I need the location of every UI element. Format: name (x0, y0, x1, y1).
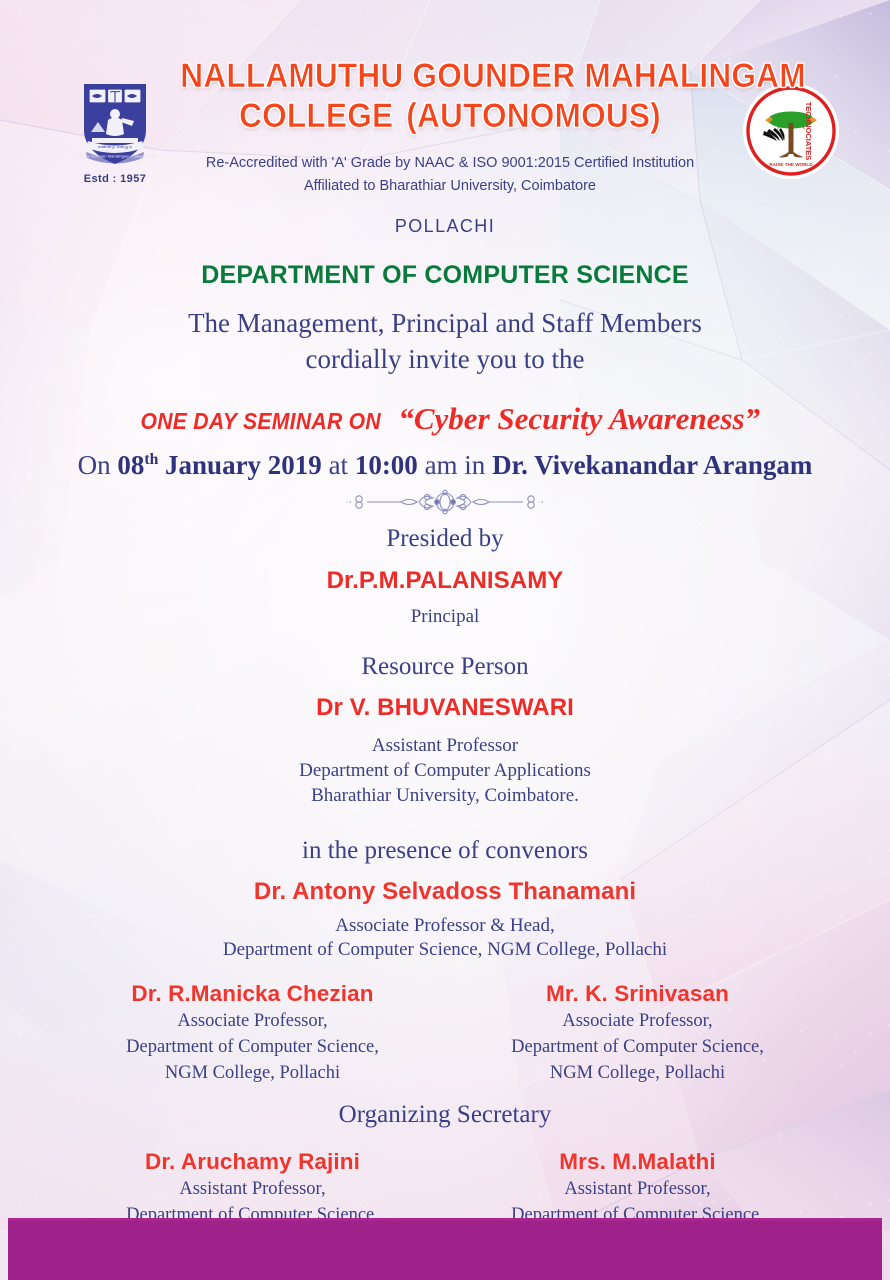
resource-person-label: Resource Person (0, 651, 890, 682)
convenor-member-1-name: Dr. R.Manicka Chezian (60, 981, 445, 1007)
event-meridiem: am in (418, 450, 492, 480)
accreditation-line2: Affiliated to Bharathiar University, Coi… (160, 175, 740, 197)
seminar-topic: “Cyber Security Awareness” (398, 401, 760, 436)
invitation-line2: cordially invite you to the (0, 342, 890, 378)
convenor-head-affiliation: Department of Computer Science, NGM Coll… (0, 938, 890, 963)
poster-content: எண்மை என்றும் Nallamuthu Gounder Mahalin… (0, 0, 890, 1280)
svg-text:Nallamuthu Gounder Mahalingam: Nallamuthu Gounder Mahalingam College, P… (72, 154, 158, 159)
resource-person-name: Dr V. BHUVANESWARI (0, 694, 890, 722)
organizing-secretary-label: Organizing Secretary (0, 1099, 890, 1130)
convenor-head-designation: Associate Professor & Head, (0, 914, 890, 939)
presided-by-designation: Principal (0, 605, 890, 630)
resource-person-institution: Bharathiar University, Coimbatore. (0, 784, 890, 809)
crest-shield-icon: எண்மை என்றும் Nallamuthu Gounder Mahalin… (56, 78, 174, 170)
event-at: at (322, 450, 355, 480)
footer-color-bar (8, 1218, 882, 1280)
college-autonomous-tag: (AUTONOMOUS) (406, 97, 661, 135)
event-prefix: On (78, 450, 118, 480)
seminar-title: ONE DAY SEMINAR ON“Cyber Security Awaren… (0, 401, 890, 437)
convenor-member-1: Dr. R.Manicka Chezian Associate Professo… (60, 981, 445, 1085)
college-name: NALLAMUTHU GOUNDER MAHALINGAM COLLEGE(AU… (180, 56, 719, 136)
convenor-member-1-college: NGM College, Pollachi (60, 1061, 445, 1085)
poster-header: எண்மை என்றும் Nallamuthu Gounder Mahalin… (0, 0, 890, 220)
organizing-secretary-2-name: Mrs. M.Malathi (445, 1149, 830, 1175)
event-month-year: January 2019 (158, 450, 322, 480)
convenors-label: in the presence of convenors (0, 835, 890, 866)
presided-by-name: Dr.P.M.PALANISAMY (0, 567, 890, 595)
event-day-suffix: th (144, 451, 158, 468)
technociates-logo-svg: TECHNOCIATES RAISE THE WORLD (742, 82, 840, 180)
organizing-secretary-1-designation: Assistant Professor, (60, 1177, 445, 1201)
ornamental-divider-icon (315, 489, 575, 515)
event-venue: Dr. Vivekanandar Arangam (492, 450, 812, 480)
college-name-line1: NALLAMUTHU GOUNDER MAHALINGAM (180, 57, 805, 95)
convenor-member-2-designation: Associate Professor, (445, 1009, 830, 1033)
accreditation-block: Re-Accredited with 'A' Grade by NAAC & I… (160, 152, 740, 197)
convenor-member-2-department: Department of Computer Science, (445, 1035, 830, 1059)
svg-text:RAISE THE WORLD: RAISE THE WORLD (769, 162, 813, 167)
organizing-secretary-1-name: Dr. Aruchamy Rajini (60, 1149, 445, 1175)
convenors-section: in the presence of convenors Dr. Antony … (0, 835, 890, 964)
technociates-logo: TECHNOCIATES RAISE THE WORLD (742, 82, 840, 180)
event-day: 08 (117, 450, 144, 480)
college-crest: எண்மை என்றும் Nallamuthu Gounder Mahalin… (56, 78, 174, 185)
convenor-head-name: Dr. Antony Selvadoss Thanamani (0, 878, 890, 906)
event-datetime-venue: On 08th January 2019 at 10:00 am in Dr. … (0, 450, 890, 481)
ornamental-divider (0, 489, 890, 517)
invitation-line1: The Management, Principal and Staff Memb… (0, 306, 890, 342)
seminar-lead-text: ONE DAY SEMINAR ON (140, 408, 381, 435)
svg-text:TECHNOCIATES: TECHNOCIATES (804, 102, 813, 161)
resource-person-designation: Assistant Professor (0, 734, 890, 759)
college-title-block: NALLAMUTHU GOUNDER MAHALINGAM COLLEGE(AU… (160, 56, 740, 197)
crest-established-year: Estd : 1957 (56, 173, 174, 185)
convenor-member-2-college: NGM College, Pollachi (445, 1061, 830, 1085)
college-name-line2: COLLEGE (239, 97, 393, 135)
convenor-member-1-designation: Associate Professor, (60, 1009, 445, 1033)
convenor-member-2: Mr. K. Srinivasan Associate Professor, D… (445, 981, 830, 1085)
invitation-poster: எண்மை என்றும் Nallamuthu Gounder Mahalin… (0, 0, 890, 1280)
convenor-members-row: Dr. R.Manicka Chezian Associate Professo… (0, 981, 890, 1085)
convenor-member-2-name: Mr. K. Srinivasan (445, 981, 830, 1007)
presided-by-label: Presided by (0, 523, 890, 554)
resource-person-section: Resource Person Dr V. BHUVANESWARI Assis… (0, 651, 890, 808)
college-name-line2-wrap: COLLEGE(AUTONOMOUS) (180, 96, 719, 136)
convenor-member-1-department: Department of Computer Science, (60, 1035, 445, 1059)
invitation-text: The Management, Principal and Staff Memb… (0, 306, 890, 377)
resource-person-department: Department of Computer Applications (0, 759, 890, 784)
crest-shield-svg: எண்மை என்றும் Nallamuthu Gounder Mahalin… (72, 78, 158, 170)
organizing-secretary-section: Organizing Secretary (0, 1099, 890, 1130)
accreditation-line1: Re-Accredited with 'A' Grade by NAAC & I… (160, 152, 740, 174)
department-name: DEPARTMENT OF COMPUTER SCIENCE (0, 261, 890, 290)
event-time: 10:00 (355, 450, 418, 480)
presided-by-section: Presided by Dr.P.M.PALANISAMY Principal (0, 523, 890, 629)
organizing-secretary-2-designation: Assistant Professor, (445, 1177, 830, 1201)
